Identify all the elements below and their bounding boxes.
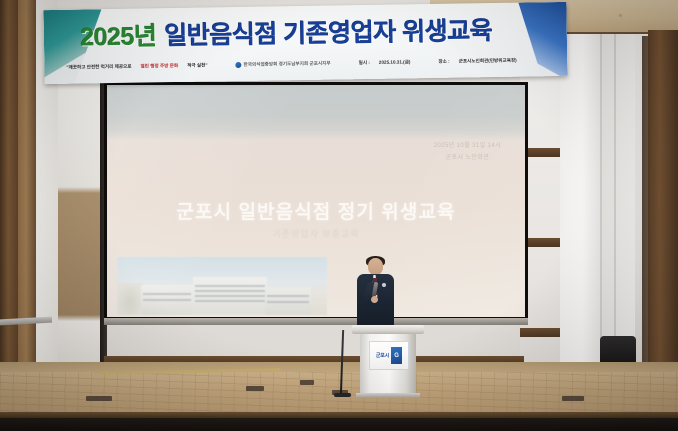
- floor-outlet: [86, 396, 112, 401]
- slide-title: 군포시 일반음식점 정기 위생교육: [107, 197, 525, 224]
- slide-subtitle: 기존영업자 보충교육: [107, 227, 525, 240]
- photo-tree: [117, 283, 143, 315]
- banner-organization-text: 한국외식업중앙회 경기도남부지회 군포시지부: [243, 61, 330, 68]
- banner-slogan-tail: 적극 실천": [187, 63, 207, 69]
- left-doorway-recess: [57, 78, 105, 398]
- banner-organization: 한국외식업중앙회 경기도남부지회 군포시지부: [235, 61, 330, 68]
- left-door-frame-outer: [0, 0, 18, 404]
- podium-logo-mark-icon: G: [391, 347, 402, 364]
- floor-outlet: [246, 386, 264, 391]
- right-wood-column: [648, 30, 678, 405]
- podium-top-surface: [352, 325, 424, 334]
- slide-meta-line-1: 2025년 10월 31일 14시: [434, 140, 501, 152]
- stage-front-face: [0, 418, 678, 431]
- banner-place-label: 장소 :: [438, 59, 449, 65]
- banner-date-value: 2025.10.31.(금): [379, 59, 411, 65]
- banner-title: 2025년 일반음식점 기존영업자 위생교육: [62, 7, 512, 58]
- projection-screen: 2025년 10월 31일 14시 군포시 노인회관 군포시 일반음식점 정기 …: [107, 85, 525, 317]
- event-banner: 2025년 일반음식점 기존영업자 위생교육 "깨끗하고 안전한 먹거리 제공으…: [43, 2, 567, 84]
- presenter-hand: [371, 296, 378, 303]
- microphone-stand-base: [334, 393, 351, 397]
- banner-slogan-highlight: 열린 행정 주방 문화: [140, 63, 178, 70]
- podium-logo-text: 군포시: [376, 352, 389, 359]
- slide-meta-line-2: 군포시 노인회관: [434, 152, 501, 164]
- presenter-head: [368, 258, 383, 275]
- presenter: [355, 258, 395, 328]
- screen-bottom-rail: [104, 318, 528, 325]
- banner-title-year: 2025년: [80, 16, 157, 53]
- banner-date-label: 일시 :: [359, 60, 370, 66]
- floor-outlet: [562, 396, 584, 401]
- screen-upper-band: [107, 85, 525, 129]
- banner-place-value: 군포시노인회관(민방위교육장): [459, 58, 517, 65]
- photo-scene: 2025년 10월 31일 14시 군포시 노인회관 군포시 일반음식점 정기 …: [0, 0, 678, 431]
- banner-title-main: 일반음식점 기존영업자 위생교육: [164, 11, 492, 52]
- slide-building-photo: [117, 257, 327, 315]
- banner-slogan-head: "깨끗하고 안전한 먹거리 제공으로: [66, 64, 131, 71]
- presenter-lapel-badge: [382, 283, 386, 287]
- right-wood-column-shadow: [642, 36, 650, 404]
- floor-outlet: [300, 380, 314, 385]
- podium-logo: 군포시 G: [369, 341, 409, 370]
- podium-foot: [356, 393, 420, 398]
- slide-meta: 2025년 10월 31일 14시 군포시 노인회관: [434, 140, 501, 164]
- association-logo-icon: [235, 62, 241, 68]
